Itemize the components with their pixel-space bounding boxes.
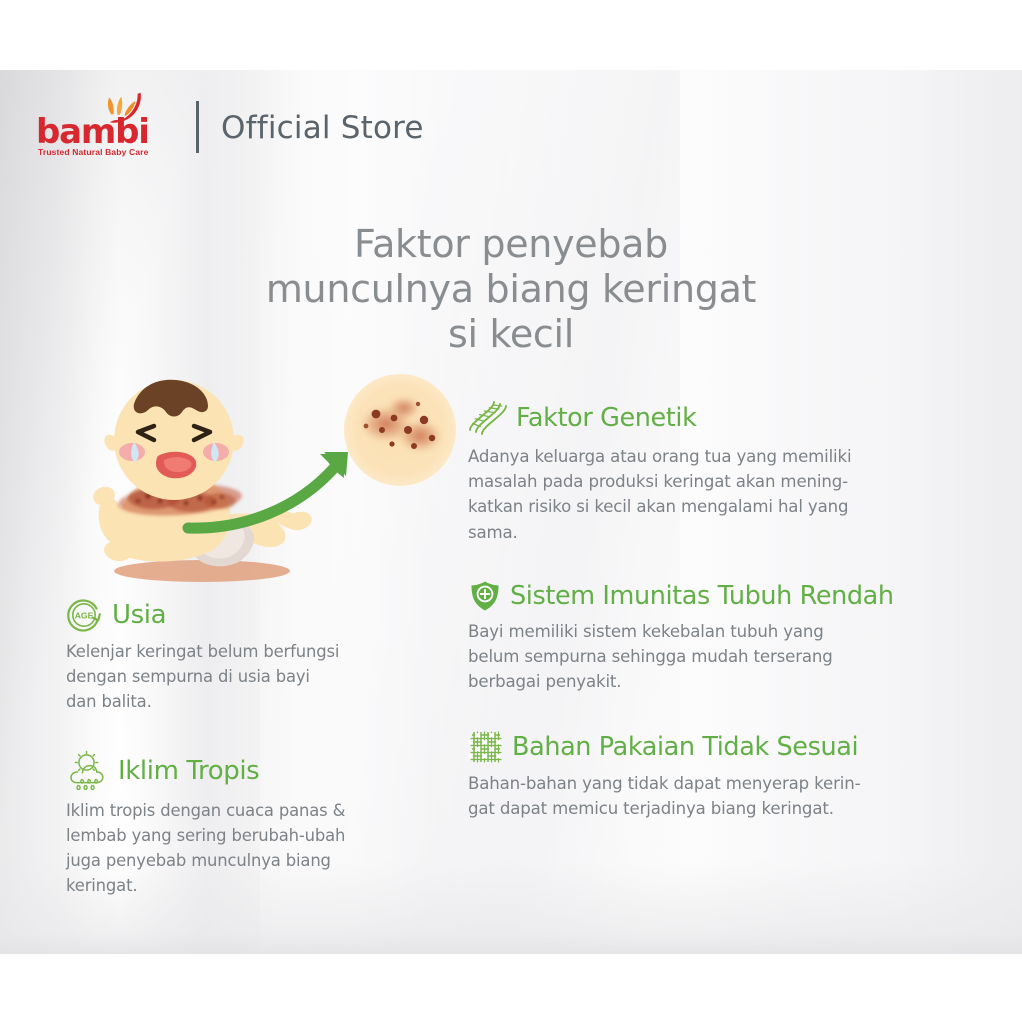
brand-divider [196,101,199,153]
factor-iklim-tropis-head: Iklim Tropis [66,749,438,793]
shield-plus-icon [468,579,502,613]
factor-genetik-head: Faktor Genetik [468,398,984,438]
factor-genetik-body: Adanya keluarga atau orang tua yang memi… [468,444,984,545]
factor-usia: AGE Usia Kelenjar keringat belum berfung… [66,596,438,715]
factor-usia-head: AGE Usia [66,596,438,634]
factor-iklim-tropis-title: Iklim Tropis [118,756,259,786]
logo-tagline: Trusted Natural Baby Care [38,147,149,157]
factor-usia-body: Kelenjar keringat belum berfungsi dengan… [66,640,438,715]
factors-column-right: Faktor Genetik Adanya keluarga atau oran… [468,398,984,821]
baby-head [104,380,243,500]
age-circle-icon: AGE [66,596,104,634]
factor-iklim-tropis-body: Iklim tropis dengan cuaca panas & lembab… [66,799,438,899]
dna-helix-icon [468,398,508,438]
page-title-line-3: si kecil [0,312,1022,357]
factor-genetik-title: Faktor Genetik [516,403,696,433]
factor-usia-title: Usia [112,600,166,630]
bambi-logo: bambi Trusted Natural Baby Care [36,92,154,158]
page-title-line-2: munculnya biang keringat [0,267,1022,312]
svg-text:AGE: AGE [75,611,94,621]
woven-fabric-icon [468,729,504,765]
factor-imunitas: Sistem Imunitas Tubuh Rendah Bayi memili… [468,579,984,695]
factor-bahan-pakaian-head: Bahan Pakaian Tidak Sesuai [468,729,984,765]
infographic-page: bambi Trusted Natural Baby Care Official… [0,0,1022,1022]
baby-mat [114,560,290,582]
factor-imunitas-body: Bayi memiliki sistem kekebalan tubuh yan… [468,619,984,695]
factor-bahan-pakaian: Bahan Pakaian Tidak Sesuai Bahan-bahan y… [468,729,984,821]
baby-arm [91,484,131,545]
factor-genetik: Faktor Genetik Adanya keluarga atau oran… [468,398,984,545]
official-store-label: Official Store [221,110,424,146]
factor-imunitas-head: Sistem Imunitas Tubuh Rendah [468,579,984,613]
factors-column-left: AGE Usia Kelenjar keringat belum berfung… [66,596,438,899]
page-title-line-1: Faktor penyebab [0,222,1022,267]
page-title: Faktor penyebab munculnya biang keringat… [0,222,1022,356]
logo-wordmark: bambi [36,115,149,149]
factor-iklim-tropis: Iklim Tropis Iklim tropis dengan cuaca p… [66,749,438,899]
sun-cloud-rain-icon [66,749,110,793]
brand-header: bambi Trusted Natural Baby Care Official… [36,90,424,160]
factor-bahan-pakaian-body: Bahan-bahan yang tidak dapat menyerap ke… [468,771,984,821]
factor-imunitas-title: Sistem Imunitas Tubuh Rendah [510,581,894,611]
baby-heat-rash-illustration [62,368,472,604]
factor-bahan-pakaian-title: Bahan Pakaian Tidak Sesuai [512,732,858,762]
rash-zoom-circle [344,374,456,486]
